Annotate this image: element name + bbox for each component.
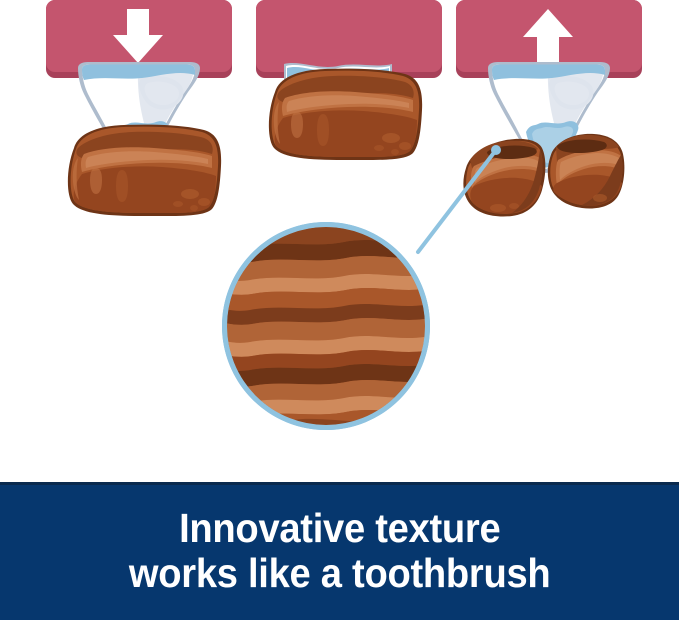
- gum-block-icon: [256, 0, 442, 72]
- panel-lift-up: [456, 0, 642, 217]
- panel-press-down: [46, 0, 232, 216]
- headline-line-1: Innovative texture: [179, 507, 500, 550]
- panel-engulf: [256, 0, 442, 160]
- headline-line-2: works like a toothbrush: [129, 552, 551, 595]
- kibble-icon: [68, 125, 221, 216]
- poster-root: Innovative texture works like a toothbru…: [0, 0, 679, 620]
- magnifier-circle-icon: [222, 222, 430, 430]
- product-illustration: [0, 0, 679, 482]
- banner-top-rule: [0, 482, 679, 485]
- kibble-icon: [269, 69, 422, 160]
- headline-banner: Innovative texture works like a toothbru…: [0, 482, 679, 620]
- kibble-fragment-right: [548, 134, 625, 209]
